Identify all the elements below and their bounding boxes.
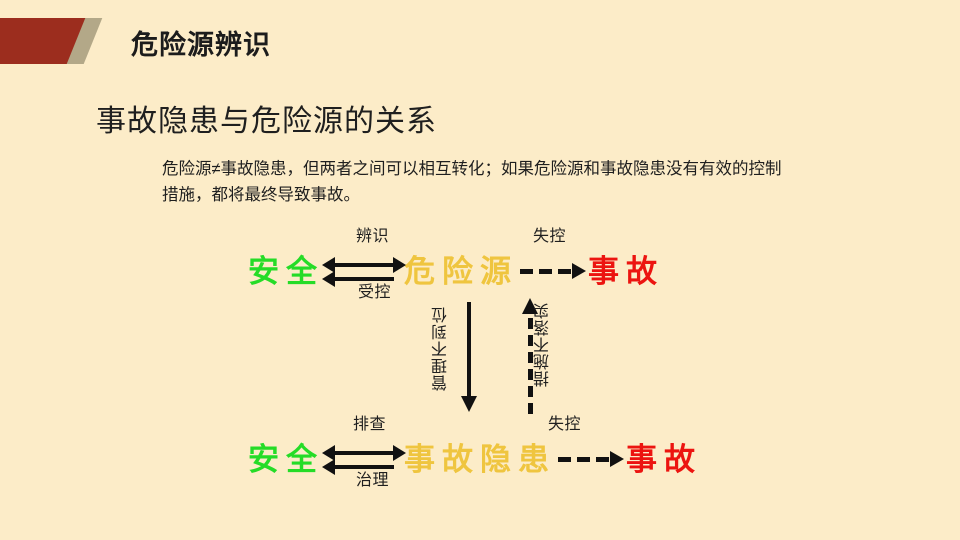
vertical-solid-arrow-down <box>459 302 479 414</box>
caption-measures-not-implemented: 措施不落实 <box>532 302 556 387</box>
dash-segment <box>520 269 533 274</box>
relationship-diagram: 辨识 受控 失控 安全 危险源 事故 管理不到位 <box>248 222 708 500</box>
arrow-line-backward <box>334 465 394 469</box>
arrow-head-left-lower-icon <box>322 271 335 287</box>
arrow-line-backward <box>334 277 394 281</box>
dash-segment <box>558 457 571 462</box>
arrow-head-left-lower-icon <box>322 459 335 475</box>
caption-management-inadequate: 管理不到位 <box>430 306 454 391</box>
flow-row-bottom: 安全 事故隐患 事故 <box>248 434 708 484</box>
arrow-head-right-icon <box>393 257 406 273</box>
term-accident-top: 事故 <box>588 256 664 287</box>
section-heading: 事故隐患与危险源的关系 <box>96 96 437 140</box>
caption-identify: 辨识 <box>356 222 389 246</box>
dash-segment <box>539 269 552 274</box>
header-banner <box>0 18 118 64</box>
caption-inspect: 排查 <box>353 410 386 434</box>
term-safe-top: 安全 <box>248 256 324 287</box>
dash-segment <box>558 269 571 274</box>
arrow-head-right-icon <box>610 451 624 467</box>
dash-segment <box>596 457 609 462</box>
dash-segment <box>528 403 533 414</box>
arrow-line-forward <box>334 451 394 455</box>
caption-out-of-control-bottom: 失控 <box>548 410 581 434</box>
term-accident-bottom: 事故 <box>626 444 702 475</box>
term-safe-bottom: 安全 <box>248 444 324 475</box>
term-hazard-source: 危险源 <box>404 256 518 287</box>
dashed-arrow-top <box>520 261 586 281</box>
bidirectional-arrow-top <box>328 254 400 288</box>
term-accident-hazard: 事故隐患 <box>404 444 556 475</box>
caption-out-of-control-top: 失控 <box>533 222 566 246</box>
dash-segment <box>577 457 590 462</box>
arrow-line-forward <box>334 263 394 267</box>
arrow-head-right-icon <box>393 445 406 461</box>
flow-row-top: 安全 危险源 事故 <box>248 246 708 296</box>
arrow-head-right-icon <box>572 263 586 279</box>
page-title: 危险源辨识 <box>131 23 271 62</box>
arrow-shaft <box>467 302 471 400</box>
body-paragraph: 危险源≠事故隐患，但两者之间可以相互转化；如果危险源和事故隐患没有有效的控制措施… <box>162 157 787 208</box>
arrow-head-down-icon <box>461 396 477 412</box>
dashed-arrow-bottom <box>558 449 624 469</box>
bidirectional-arrow-bottom <box>328 442 400 476</box>
dash-segment <box>528 386 533 397</box>
